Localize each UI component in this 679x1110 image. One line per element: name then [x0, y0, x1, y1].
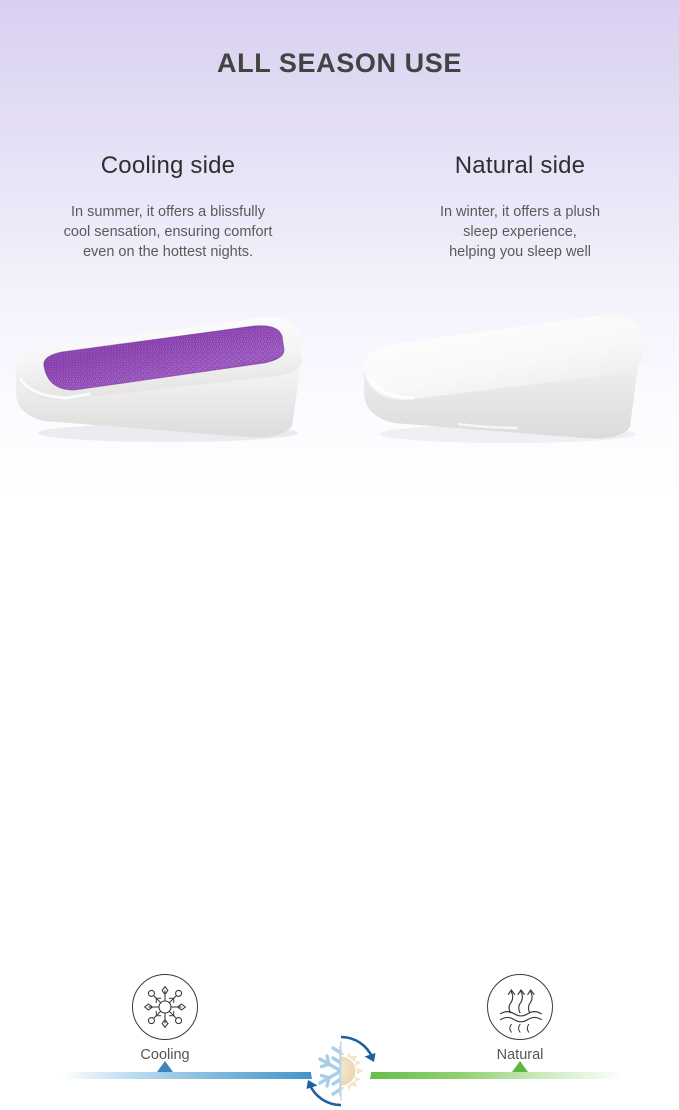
season-scale: Cooling [0, 478, 679, 641]
column-natural: Natural side In winter, it offers a plus… [360, 152, 679, 262]
column-description-cooling: In summer, it offers a blissfully cool s… [8, 202, 328, 262]
snowflake-burst-icon [132, 974, 198, 1040]
column-heading-cooling: Cooling side [8, 152, 328, 180]
column-cooling: Cooling side In summer, it offers a blis… [8, 152, 328, 262]
column-description-natural: In winter, it offers a plush sleep exper… [360, 202, 679, 262]
natural-marker-triangle [512, 1061, 528, 1072]
column-heading-natural: Natural side [360, 152, 679, 180]
breathable-airflow-icon [487, 974, 553, 1040]
all-season-use-infographic: ALL SEASON USE Cooling side In summer, i… [0, 0, 679, 641]
snowflake-sun-rotation-icon [302, 1032, 380, 1110]
cooling-marker-triangle [157, 1061, 173, 1072]
product-image-cooling-pillow [0, 300, 340, 460]
cooling-gradient-bar [62, 1072, 324, 1079]
description-line: cool sensation, ensuring comfort [8, 222, 328, 242]
description-line: sleep experience, [360, 222, 679, 242]
description-line: In winter, it offers a plush [360, 202, 679, 222]
description-line: even on the hottest nights. [8, 242, 328, 262]
natural-gradient-bar [355, 1072, 623, 1079]
description-line: helping you sleep well [360, 242, 679, 262]
description-line: In summer, it offers a blissfully [8, 202, 328, 222]
page-title: ALL SEASON USE [0, 48, 679, 79]
product-image-natural-pillow [340, 300, 679, 460]
